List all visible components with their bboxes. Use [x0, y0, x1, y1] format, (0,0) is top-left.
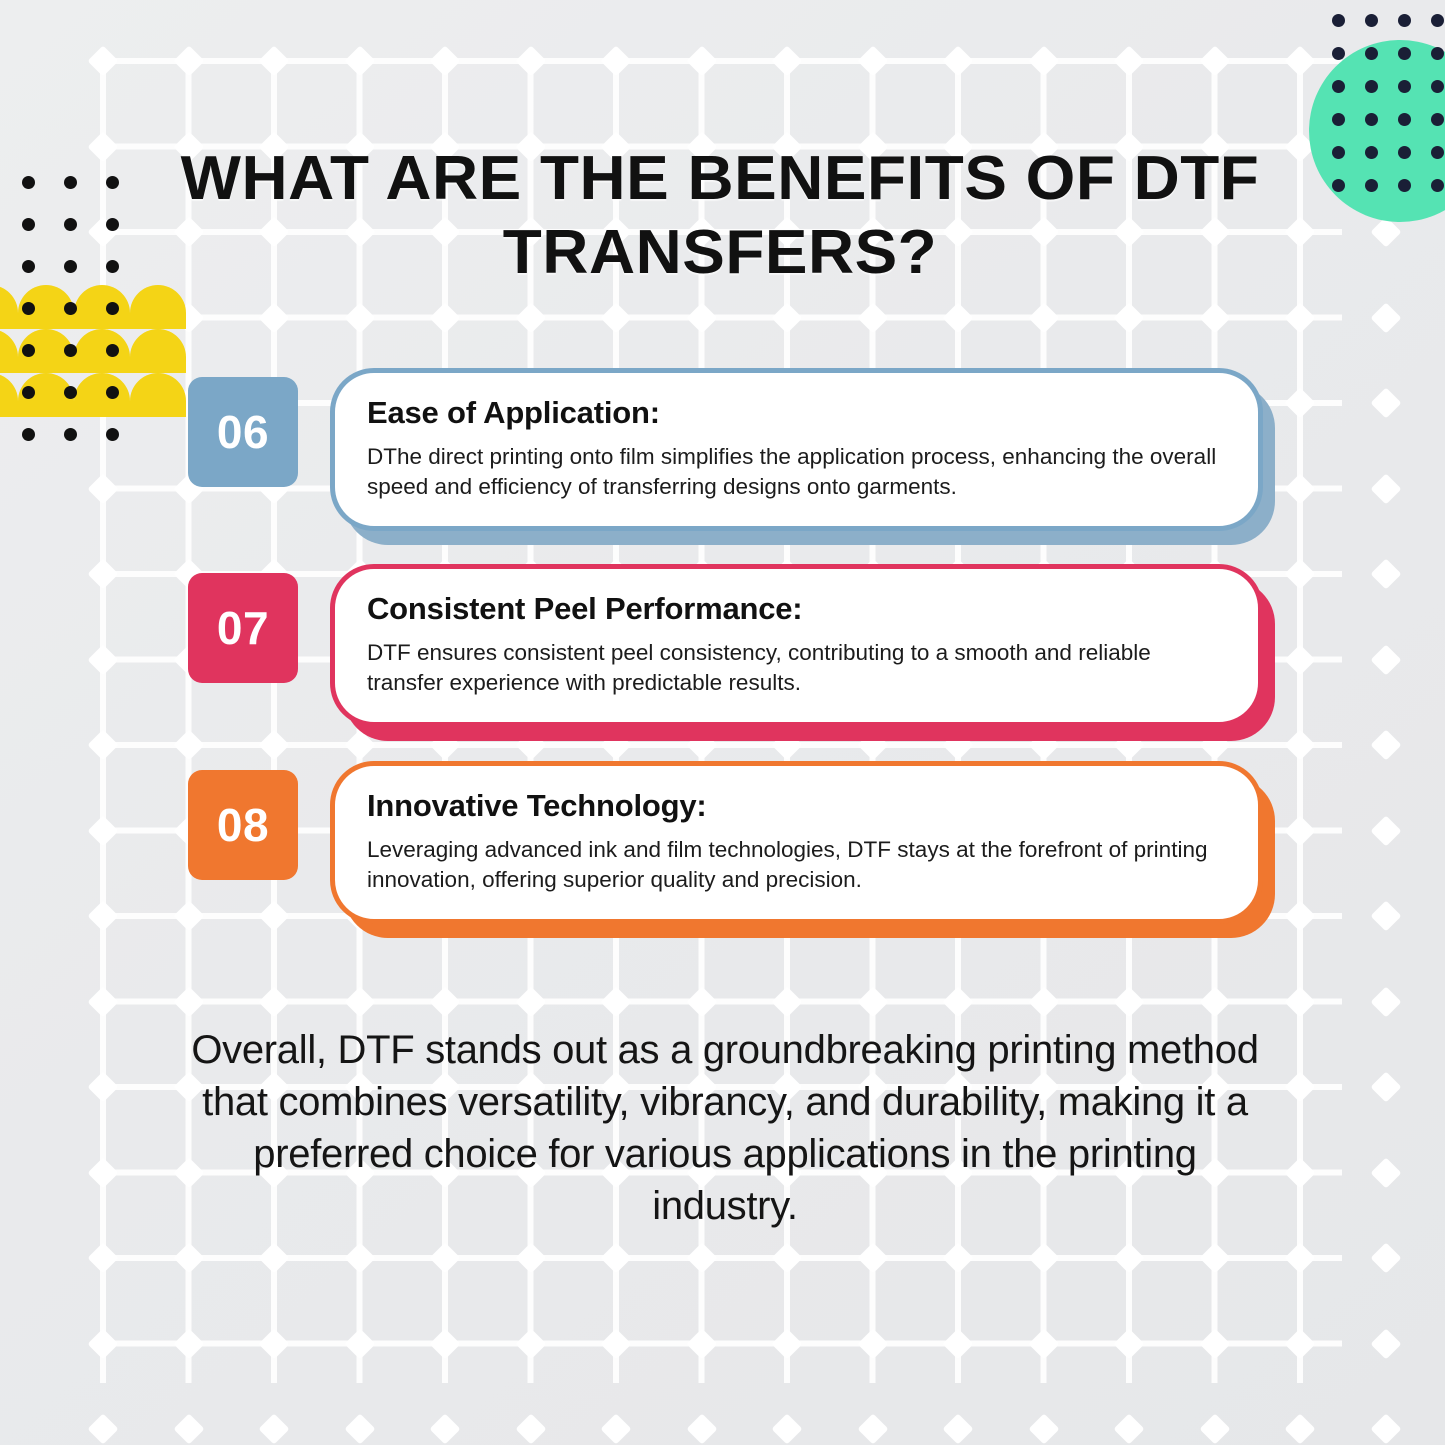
decorative-dot — [106, 176, 119, 189]
grid-diamond — [1113, 302, 1144, 333]
decorative-dot — [1398, 146, 1411, 159]
benefit-row: 08 Innovative Technology: Leveraging adv… — [188, 761, 1263, 924]
grid-diamond — [1028, 45, 1059, 76]
grid-diamond — [771, 45, 802, 76]
decorative-dot — [1332, 146, 1345, 159]
grid-diamond — [1028, 1413, 1059, 1444]
decorative-dot — [1365, 146, 1378, 159]
grid-diamond — [942, 1242, 973, 1273]
grid-diamond — [771, 1413, 802, 1444]
grid-diamond — [515, 45, 546, 76]
grid-diamond — [686, 1328, 717, 1359]
grid-diamond — [258, 1413, 289, 1444]
grid-diamond — [600, 1413, 631, 1444]
decorative-dot — [1332, 113, 1345, 126]
benefit-row: 07 Consistent Peel Performance: DTF ensu… — [188, 564, 1263, 727]
decorative-dot — [64, 344, 77, 357]
decorative-dot — [22, 302, 35, 315]
black-dot-grid-decoration — [8, 162, 134, 456]
decorative-dot — [1398, 179, 1411, 192]
grid-diamond — [1028, 302, 1059, 333]
benefit-body: Leveraging advanced ink and film technol… — [367, 835, 1228, 895]
grid-diamond — [87, 45, 118, 76]
grid-diamond — [600, 302, 631, 333]
grid-diamond — [344, 1242, 375, 1273]
grid-diamond — [87, 1413, 118, 1444]
grid-diamond — [344, 986, 375, 1017]
grid-diamond — [1199, 1328, 1230, 1359]
decorative-dot — [1365, 113, 1378, 126]
grid-diamond — [1113, 986, 1144, 1017]
grid-diamond — [1370, 1157, 1401, 1188]
grid-diamond — [429, 302, 460, 333]
grid-diamond — [1284, 45, 1315, 76]
grid-diamond — [344, 302, 375, 333]
decorative-dot — [1398, 47, 1411, 60]
benefit-card[interactable]: Innovative Technology: Leveraging advanc… — [330, 761, 1263, 924]
grid-diamond — [515, 1413, 546, 1444]
grid-diamond — [686, 1242, 717, 1273]
grid-diamond — [1199, 1242, 1230, 1273]
grid-diamond — [87, 729, 118, 760]
decorative-dot — [64, 176, 77, 189]
grid-diamond — [1370, 1413, 1401, 1444]
grid-diamond — [429, 1328, 460, 1359]
benefit-card-wrapper: Ease of Application: DThe direct printin… — [330, 368, 1263, 531]
decorative-dot — [1398, 14, 1411, 27]
grid-diamond — [771, 1242, 802, 1273]
benefit-heading: Consistent Peel Performance: — [367, 591, 1228, 627]
grid-diamond — [87, 900, 118, 931]
benefit-number-badge: 07 — [188, 573, 298, 683]
grid-diamond — [258, 302, 289, 333]
grid-diamond — [429, 1242, 460, 1273]
decorative-dot — [106, 260, 119, 273]
grid-diamond — [942, 1413, 973, 1444]
grid-diamond — [1113, 1328, 1144, 1359]
grid-diamond — [87, 1242, 118, 1273]
decorative-dot — [1332, 47, 1345, 60]
grid-diamond — [1370, 644, 1401, 675]
grid-diamond — [600, 45, 631, 76]
grid-diamond — [344, 45, 375, 76]
grid-diamond — [515, 1242, 546, 1273]
grid-diamond — [686, 1413, 717, 1444]
grid-diamond — [87, 1071, 118, 1102]
decorative-dot — [106, 344, 119, 357]
grid-diamond — [1199, 45, 1230, 76]
grid-diamond — [258, 986, 289, 1017]
benefit-body: DTF ensures consistent peel consistency,… — [367, 638, 1228, 698]
grid-diamond — [857, 1413, 888, 1444]
decorative-dot — [1431, 113, 1444, 126]
grid-diamond — [942, 986, 973, 1017]
grid-diamond — [942, 302, 973, 333]
grid-diamond — [857, 986, 888, 1017]
grid-diamond — [686, 302, 717, 333]
decorative-dot — [106, 386, 119, 399]
grid-diamond — [942, 1328, 973, 1359]
decorative-dot — [64, 218, 77, 231]
grid-diamond — [1284, 558, 1315, 589]
grid-diamond — [857, 45, 888, 76]
summary-paragraph: Overall, DTF stands out as a groundbreak… — [185, 1024, 1265, 1232]
grid-diamond — [1370, 473, 1401, 504]
grid-diamond — [87, 1328, 118, 1359]
scallop-shape — [130, 329, 186, 373]
decorative-dot — [64, 386, 77, 399]
grid-diamond — [942, 45, 973, 76]
grid-diamond — [1370, 729, 1401, 760]
decorative-dot — [22, 386, 35, 399]
grid-diamond — [1113, 1413, 1144, 1444]
grid-diamond — [1284, 387, 1315, 418]
decorative-dot — [1398, 113, 1411, 126]
grid-diamond — [1370, 1071, 1401, 1102]
grid-diamond — [1284, 900, 1315, 931]
scallop-shape — [130, 373, 186, 417]
grid-diamond — [258, 45, 289, 76]
decorative-dot — [22, 176, 35, 189]
grid-diamond — [173, 1242, 204, 1273]
grid-diamond — [771, 986, 802, 1017]
grid-diamond — [1113, 1242, 1144, 1273]
grid-diamond — [87, 986, 118, 1017]
decorative-dot — [106, 302, 119, 315]
decorative-dot — [1365, 14, 1378, 27]
scallop-shape — [130, 285, 186, 329]
decorative-dot — [64, 302, 77, 315]
grid-diamond — [515, 986, 546, 1017]
grid-diamond — [344, 1328, 375, 1359]
grid-diamond — [1284, 986, 1315, 1017]
decorative-dot — [1398, 80, 1411, 93]
grid-diamond — [1284, 1413, 1315, 1444]
decorative-dot — [64, 428, 77, 441]
benefit-heading: Innovative Technology: — [367, 788, 1228, 824]
decorative-dot — [1431, 14, 1444, 27]
grid-diamond — [1284, 1157, 1315, 1188]
grid-diamond — [173, 986, 204, 1017]
grid-diamond — [1199, 302, 1230, 333]
benefit-heading: Ease of Application: — [367, 395, 1228, 431]
decorative-dot — [1431, 47, 1444, 60]
grid-diamond — [258, 1328, 289, 1359]
decorative-dot — [1431, 179, 1444, 192]
grid-diamond — [600, 986, 631, 1017]
grid-diamond — [87, 644, 118, 675]
benefit-row: 06 Ease of Application: DThe direct prin… — [188, 368, 1263, 531]
decorative-dot — [106, 218, 119, 231]
grid-diamond — [1284, 815, 1315, 846]
grid-diamond — [1028, 986, 1059, 1017]
grid-diamond — [1284, 302, 1315, 333]
decorative-dot — [1431, 146, 1444, 159]
grid-diamond — [1370, 558, 1401, 589]
decorative-dot — [22, 344, 35, 357]
grid-diamond — [258, 1242, 289, 1273]
grid-diamond — [600, 1328, 631, 1359]
navy-dot-grid-decoration — [1322, 4, 1445, 202]
grid-diamond — [1284, 644, 1315, 675]
grid-diamond — [87, 815, 118, 846]
grid-diamond — [173, 45, 204, 76]
grid-diamond — [857, 1242, 888, 1273]
grid-diamond — [1370, 1242, 1401, 1273]
grid-diamond — [1284, 1242, 1315, 1273]
grid-diamond — [429, 45, 460, 76]
grid-diamond — [1370, 900, 1401, 931]
grid-diamond — [258, 729, 289, 760]
grid-diamond — [429, 986, 460, 1017]
grid-diamond — [1370, 387, 1401, 418]
grid-diamond — [87, 1157, 118, 1188]
grid-diamond — [173, 1328, 204, 1359]
benefit-card-wrapper: Consistent Peel Performance: DTF ensures… — [330, 564, 1263, 727]
grid-diamond — [600, 1242, 631, 1273]
grid-diamond — [686, 45, 717, 76]
grid-diamond — [1370, 1328, 1401, 1359]
decorative-dot — [22, 218, 35, 231]
decorative-dot — [1332, 14, 1345, 27]
infographic-poster: WHAT ARE THE BENEFITS OF DTF TRANSFERS? … — [0, 0, 1445, 1445]
decorative-dot — [1332, 80, 1345, 93]
grid-diamond — [515, 302, 546, 333]
grid-diamond — [686, 986, 717, 1017]
decorative-dot — [1332, 179, 1345, 192]
grid-diamond — [1284, 473, 1315, 504]
grid-diamond — [1284, 729, 1315, 760]
decorative-dot — [1365, 47, 1378, 60]
grid-diamond — [1113, 45, 1144, 76]
benefit-number-badge: 06 — [188, 377, 298, 487]
grid-diamond — [857, 1328, 888, 1359]
grid-diamond — [1028, 1328, 1059, 1359]
decorative-dot — [1431, 80, 1444, 93]
decorative-dot — [64, 260, 77, 273]
benefit-number-badge: 08 — [188, 770, 298, 880]
grid-diamond — [87, 131, 118, 162]
benefit-body: DThe direct printing onto film simplifie… — [367, 442, 1228, 502]
grid-diamond — [344, 1413, 375, 1444]
decorative-dot — [1365, 80, 1378, 93]
grid-diamond — [87, 473, 118, 504]
grid-diamond — [1370, 815, 1401, 846]
grid-diamond — [1370, 302, 1401, 333]
grid-diamond — [429, 1413, 460, 1444]
decorative-dot — [106, 428, 119, 441]
grid-diamond — [1370, 986, 1401, 1017]
benefit-card-wrapper: Innovative Technology: Leveraging advanc… — [330, 761, 1263, 924]
grid-diamond — [1284, 1328, 1315, 1359]
grid-diamond — [87, 558, 118, 589]
benefit-card[interactable]: Consistent Peel Performance: DTF ensures… — [330, 564, 1263, 727]
grid-diamond — [515, 1328, 546, 1359]
grid-diamond — [1284, 1071, 1315, 1102]
grid-diamond — [771, 1328, 802, 1359]
page-title: WHAT ARE THE BENEFITS OF DTF TRANSFERS? — [143, 142, 1297, 290]
grid-diamond — [1028, 1242, 1059, 1273]
grid-diamond — [173, 1413, 204, 1444]
grid-diamond — [771, 302, 802, 333]
grid-diamond — [1199, 986, 1230, 1017]
grid-diamond — [173, 729, 204, 760]
decorative-dot — [1365, 179, 1378, 192]
decorative-dot — [22, 428, 35, 441]
grid-diamond — [857, 302, 888, 333]
decorative-dot — [22, 260, 35, 273]
grid-diamond — [1199, 1413, 1230, 1444]
benefit-card[interactable]: Ease of Application: DThe direct printin… — [330, 368, 1263, 531]
